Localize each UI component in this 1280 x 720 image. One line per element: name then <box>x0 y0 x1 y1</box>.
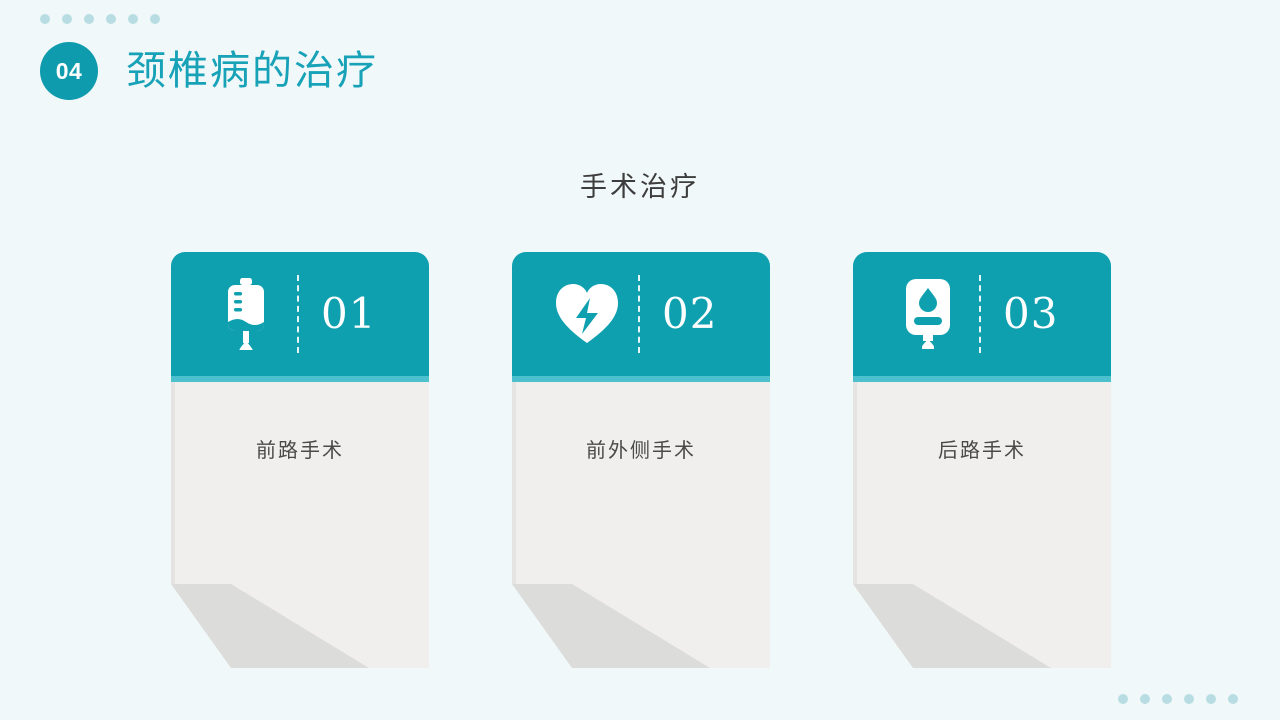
decor-dot <box>1140 694 1150 704</box>
card-ribbon-tail <box>853 584 1111 668</box>
decor-dots-bottom-right <box>1118 694 1238 704</box>
card-body: 后路手术 <box>853 382 1111 584</box>
card-ribbon-tail <box>171 584 429 668</box>
card-label: 前路手术 <box>171 434 429 463</box>
decor-dots-top-left <box>40 14 160 24</box>
card-divider <box>638 275 640 353</box>
decor-dot <box>128 14 138 24</box>
slide-header: 04 颈椎病的治疗 <box>40 42 378 100</box>
card-ribbon-tail <box>512 584 770 668</box>
card-number: 01 <box>321 293 387 335</box>
card-divider <box>979 275 981 353</box>
card-number: 02 <box>662 293 728 335</box>
blood-monitor-icon <box>895 279 961 349</box>
slide-subtitle: 手术治疗 <box>0 165 1280 204</box>
card-divider <box>297 275 299 353</box>
card-item[interactable]: 03 后路手术 <box>853 252 1111 584</box>
decor-dot <box>150 14 160 24</box>
section-number-badge: 04 <box>40 42 98 100</box>
card-group: 01 前路手术 <box>0 252 1280 672</box>
decor-dot <box>1206 694 1216 704</box>
card-item[interactable]: 01 前路手术 <box>171 252 429 584</box>
decor-dot <box>62 14 72 24</box>
iv-drip-icon <box>213 278 279 350</box>
decor-dot <box>1118 694 1128 704</box>
card-item[interactable]: 02 前外侧手术 <box>512 252 770 584</box>
decor-dot <box>84 14 94 24</box>
page-title: 颈椎病的治疗 <box>126 51 378 91</box>
card-body: 前外侧手术 <box>512 382 770 584</box>
decor-dot <box>1228 694 1238 704</box>
card-label: 前外侧手术 <box>512 434 770 463</box>
decor-dot <box>106 14 116 24</box>
card-body: 前路手术 <box>171 382 429 584</box>
heart-pulse-icon <box>554 282 620 346</box>
decor-dot <box>1184 694 1194 704</box>
card-number: 03 <box>1003 293 1069 335</box>
card-header: 03 <box>853 252 1111 376</box>
decor-dot <box>1162 694 1172 704</box>
card-label: 后路手术 <box>853 434 1111 463</box>
card-header: 02 <box>512 252 770 376</box>
decor-dot <box>40 14 50 24</box>
card-header: 01 <box>171 252 429 376</box>
